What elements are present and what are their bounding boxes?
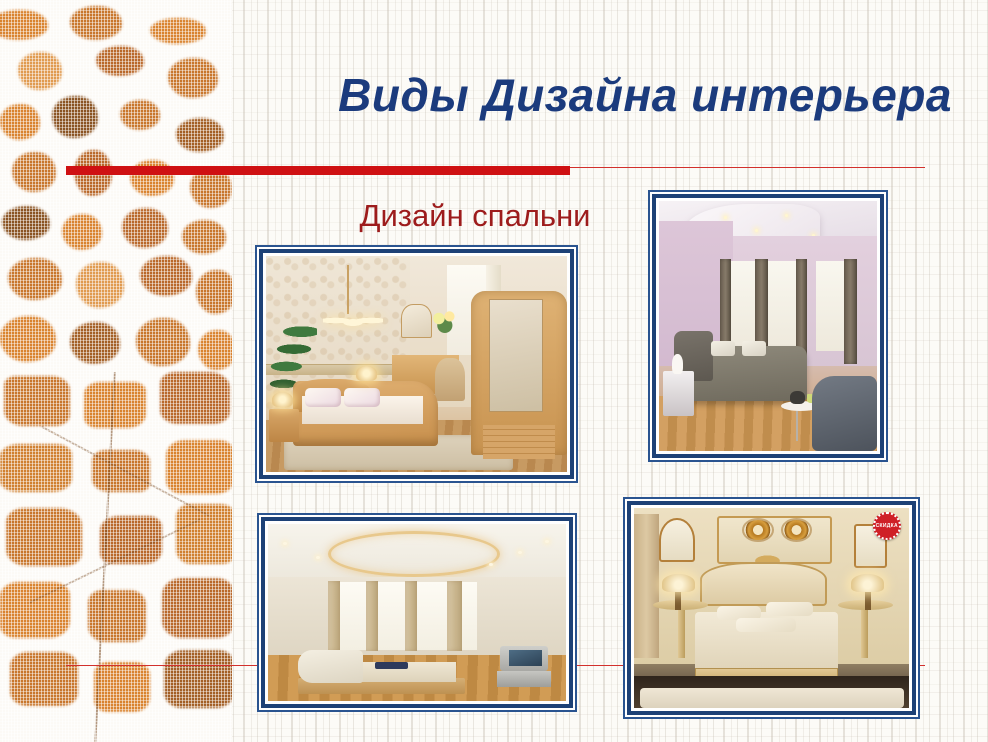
photo-frame-bedroom-modern-lilac[interactable]	[648, 190, 888, 462]
frame-inner-border	[652, 194, 884, 458]
photo-bedroom-minimalist-cream	[268, 524, 566, 701]
discount-sticker-badge: СКИДКА	[873, 512, 901, 540]
title-accent-bar	[66, 166, 570, 175]
page-title: Виды Дизайна интерьера	[252, 68, 952, 122]
photo-frame-bedroom-minimalist-cream[interactable]	[257, 513, 577, 712]
side-decor-panel	[0, 0, 232, 742]
photo-bedroom-classic-gold: СКИДКА	[634, 508, 909, 708]
frame-inner-border	[261, 517, 573, 708]
frame-inner-border	[259, 249, 574, 479]
photo-bedroom-classic-light-wood	[266, 256, 567, 472]
presentation-slide: Виды Дизайна интерьера Дизайн спальни	[0, 0, 988, 742]
photo-bedroom-modern-lilac	[659, 201, 877, 451]
photo-frame-bedroom-classic-light-wood[interactable]	[255, 245, 578, 483]
page-subtitle: Дизайн спальни	[300, 198, 650, 234]
panel-weave-overlay	[0, 0, 232, 742]
photo-frame-bedroom-classic-gold[interactable]: СКИДКА	[623, 497, 920, 719]
frame-inner-border: СКИДКА	[627, 501, 916, 715]
